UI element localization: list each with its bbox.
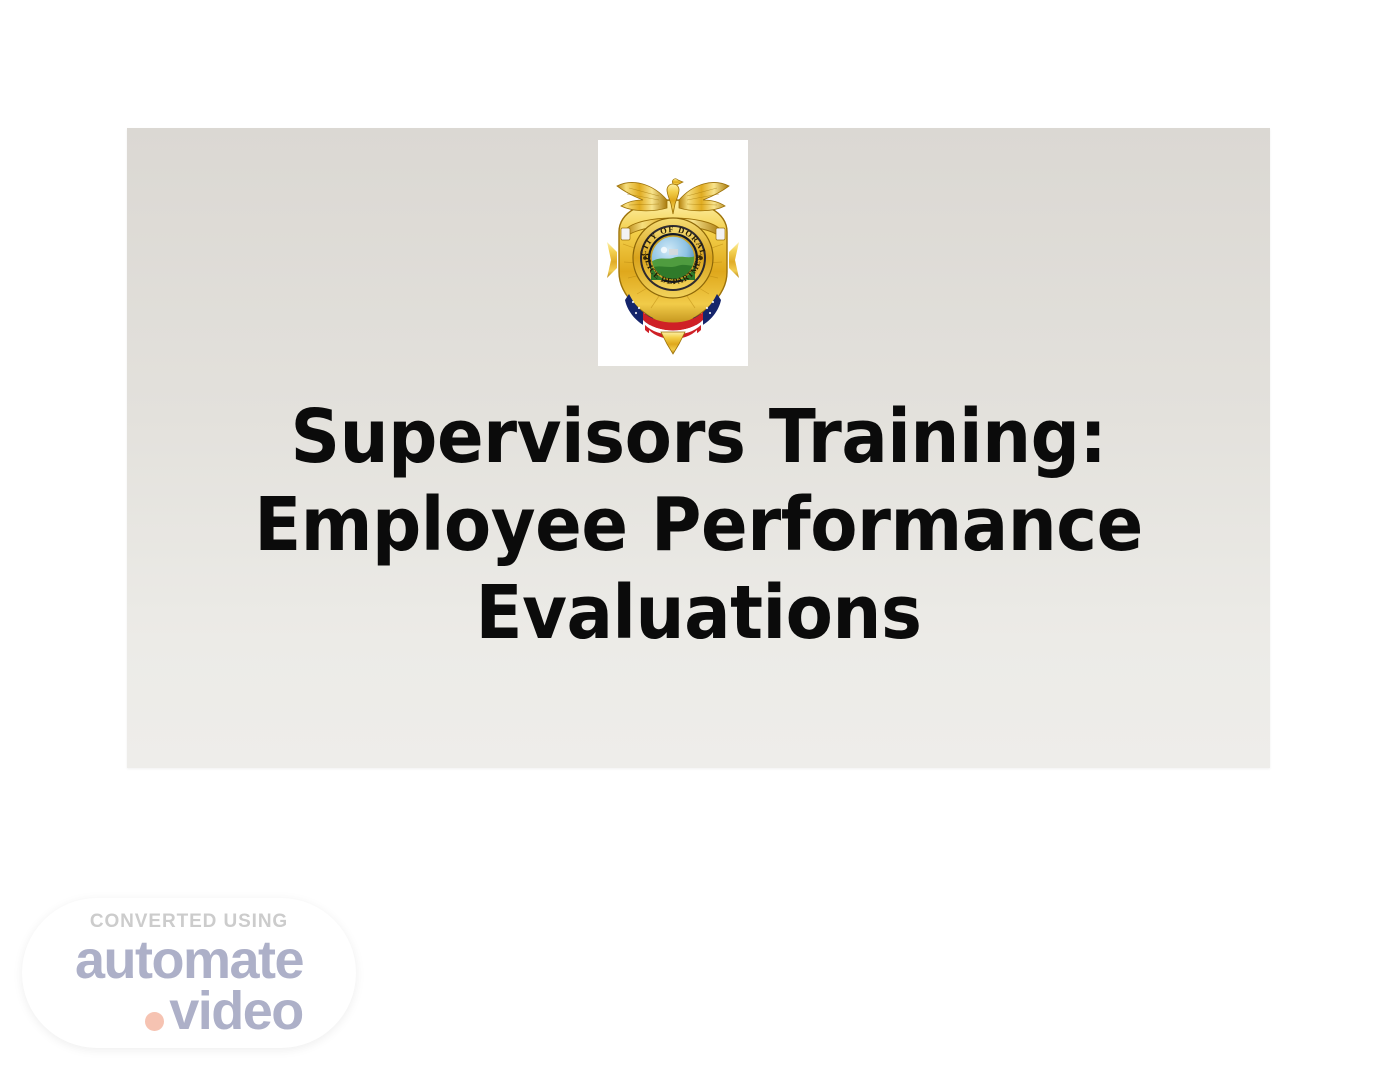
title-line-2: Employee Performance [167,481,1230,569]
watermark-badge: CONVERTED USING automate video [22,898,356,1048]
title-line-1: Supervisors Training: [167,393,1230,481]
police-badge-icon: CITY OF DORAL POLICE DEPARTMENT [598,140,748,366]
watermark-domain: video [169,984,303,1038]
slide-image-badge: CITY OF DORAL POLICE DEPARTMENT [598,140,748,366]
slide-title: Supervisors Training: Employee Performan… [127,393,1270,657]
watermark-brand: automate [75,934,303,986]
watermark-domain-row: video [145,984,303,1038]
presentation-slide: CITY OF DORAL POLICE DEPARTMENT Supervis… [127,128,1270,768]
title-line-3: Evaluations [167,569,1230,657]
watermark-dot-icon [145,1012,164,1031]
